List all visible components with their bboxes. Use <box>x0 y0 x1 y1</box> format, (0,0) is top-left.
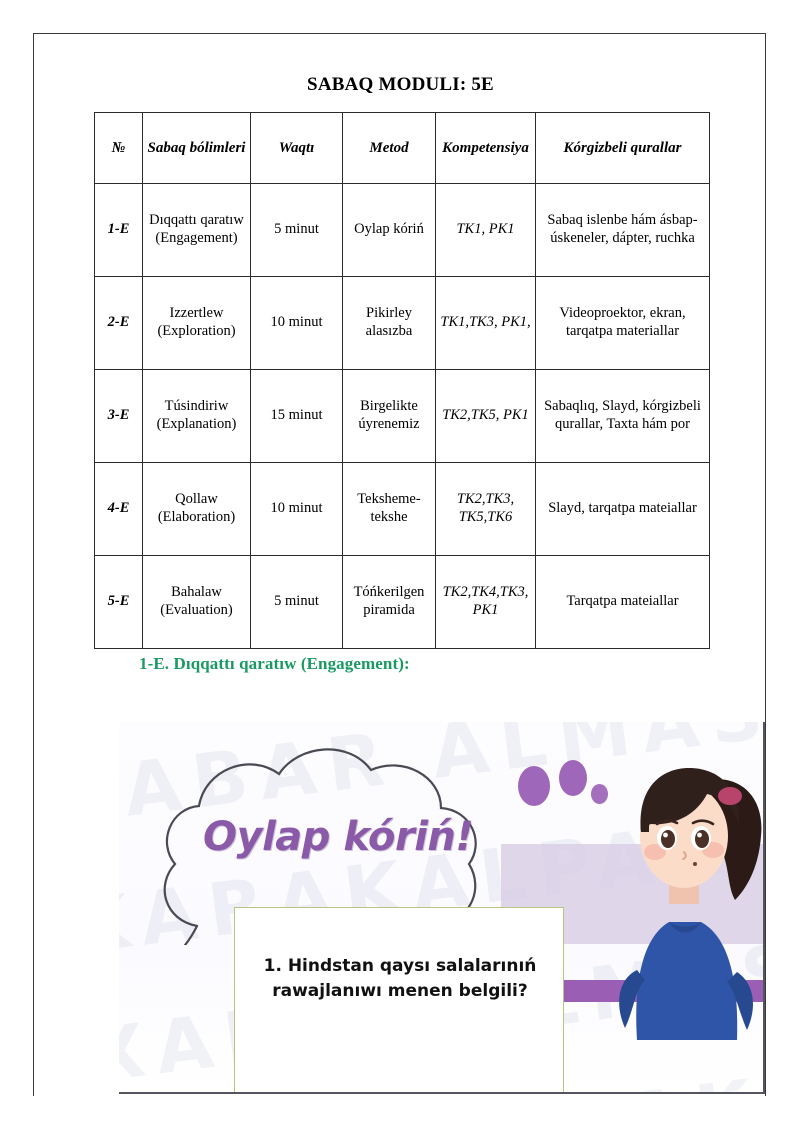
purple-circle-medium <box>559 760 587 796</box>
cell-tools: Slayd, tarqatpa mateiallar <box>536 463 710 556</box>
slide-canvas: XABAR ALMASIW KARAKALPAK XABAR ALMASIW K… <box>119 722 765 1094</box>
purple-circle-large <box>518 766 550 806</box>
cell-competency: TK1, PK1 <box>436 184 536 277</box>
cell-time: 10 minut <box>251 463 343 556</box>
cell-no: 4-E <box>95 463 143 556</box>
cell-competency: TK2,TK4,TK3, PK1 <box>436 556 536 649</box>
cell-section: Qollaw (Elaboration) <box>143 463 251 556</box>
cell-no: 1-E <box>95 184 143 277</box>
engagement-slide-image: XABAR ALMASIW KARAKALPAK XABAR ALMASIW K… <box>34 694 765 1096</box>
cell-no: 5-E <box>95 556 143 649</box>
cell-tools: Sabaqlıq, Slayd, kórgizbeli qurallar, Ta… <box>536 370 710 463</box>
lesson-module-table: № Sabaq bólimleri Waqtı Metod Kompetensi… <box>94 112 710 649</box>
table-row: 2-E Izzertlew (Exploration) 10 minut Pik… <box>95 277 710 370</box>
column-header-time: Waqtı <box>251 113 343 184</box>
cell-time: 10 minut <box>251 277 343 370</box>
engagement-section-heading: 1-E. Dıqqattı qaratıw (Engagement): <box>139 654 410 674</box>
column-header-no: № <box>95 113 143 184</box>
cloud-label: Oylap kóriń! <box>203 814 473 860</box>
cell-time: 5 minut <box>251 556 343 649</box>
page-title: SABAQ MODULI: 5E <box>34 74 767 96</box>
document-page: SABAQ MODULI: 5E № Sabaq bólimleri Waqtı… <box>33 33 766 1096</box>
cell-method: Birgelikte úyrenemiz <box>343 370 436 463</box>
column-header-method: Metod <box>343 113 436 184</box>
cell-no: 2-E <box>95 277 143 370</box>
question-card: 1. Hindstan qaysı salalarınıń rawajlanıw… <box>234 907 564 1094</box>
table-row: 5-E Bahalaw (Evaluation) 5 minut Tóńkeri… <box>95 556 710 649</box>
cell-method: Oylap kóriń <box>343 184 436 277</box>
column-header-section: Sabaq bólimleri <box>143 113 251 184</box>
column-header-competency: Kompetensiya <box>436 113 536 184</box>
girl-character-illustration <box>589 740 765 1040</box>
cell-method: Pikirley alasızba <box>343 277 436 370</box>
cell-competency: TK1,TK3, PK1, <box>436 277 536 370</box>
cell-tools: Sabaq islenbe hám ásbap-úskeneler, dápte… <box>536 184 710 277</box>
cell-section: Túsindiriw (Explanation) <box>143 370 251 463</box>
table-header-row: № Sabaq bólimleri Waqtı Metod Kompetensi… <box>95 113 710 184</box>
cell-time: 5 minut <box>251 184 343 277</box>
cell-section: Izzertlew (Exploration) <box>143 277 251 370</box>
cell-method: Tóńkerilgen piramida <box>343 556 436 649</box>
table-header: № Sabaq bólimleri Waqtı Metod Kompetensi… <box>95 113 710 184</box>
cell-section: Bahalaw (Evaluation) <box>143 556 251 649</box>
cell-no: 3-E <box>95 370 143 463</box>
table-row: 4-E Qollaw (Elaboration) 10 minut Tekshe… <box>95 463 710 556</box>
cell-tools: Videoproektor, ekran, tarqatpa materiall… <box>536 277 710 370</box>
table-row: 3-E Túsindiriw (Explanation) 15 minut Bi… <box>95 370 710 463</box>
table-row: 1-E Dıqqattı qaratıw (Engagement) 5 minu… <box>95 184 710 277</box>
cell-section: Dıqqattı qaratıw (Engagement) <box>143 184 251 277</box>
cell-tools: Tarqatpa mateiallar <box>536 556 710 649</box>
table-body: 1-E Dıqqattı qaratıw (Engagement) 5 minu… <box>95 184 710 649</box>
cell-method: Teksheme-tekshe <box>343 463 436 556</box>
cell-competency: TK2,TK5, PK1 <box>436 370 536 463</box>
cell-competency: TK2,TK3, TK5,TK6 <box>436 463 536 556</box>
column-header-tools: Kórgizbeli qurallar <box>536 113 710 184</box>
cell-time: 15 minut <box>251 370 343 463</box>
question-text: 1. Hindstan qaysı salalarınıń rawajlanıw… <box>249 954 551 1003</box>
